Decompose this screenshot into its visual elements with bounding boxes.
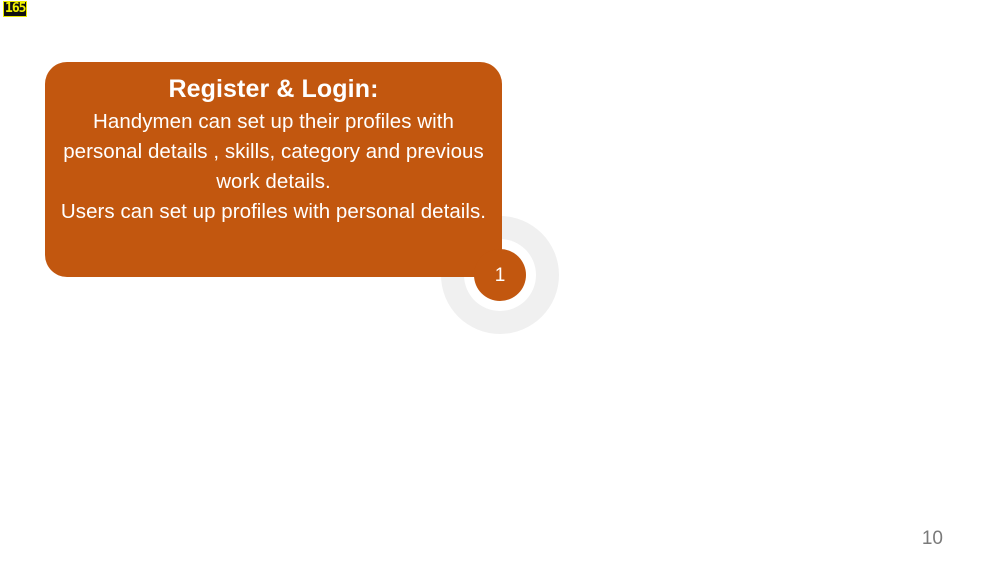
slide-number: 10	[922, 529, 943, 548]
callout-title: Register & Login:	[59, 74, 488, 105]
callout-paragraph-1: Handymen can set up their profiles with …	[59, 107, 488, 197]
step-number-label: 1	[495, 266, 506, 285]
callout-box: Register & Login: Handymen can set up th…	[45, 62, 502, 277]
callout-paragraph-2: Users can set up profiles with personal …	[59, 197, 488, 227]
slide-canvas: 165 1 Register & Login: Handymen can set…	[0, 0, 1000, 562]
step-number-disc: 1	[474, 249, 526, 301]
counter-badge: 165	[3, 1, 27, 17]
